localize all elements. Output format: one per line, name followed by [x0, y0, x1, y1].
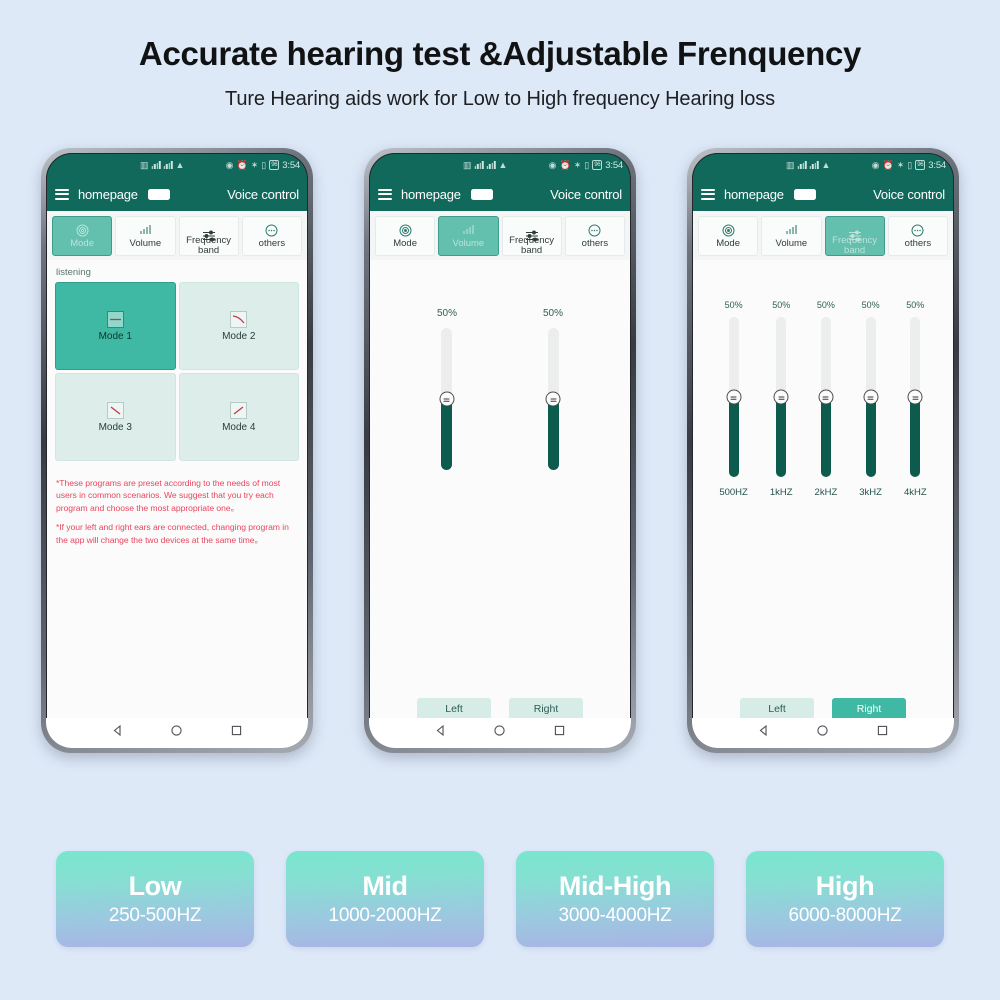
android-nav-bar [369, 718, 631, 748]
tab-frequency-band-label: Frequency band [180, 236, 238, 256]
slider-fill [821, 397, 831, 477]
app-bar-title: homepage [401, 187, 461, 202]
voice-control-button[interactable]: Voice control [227, 187, 299, 202]
frequency-slider-4khz: 50% 4kHZ [904, 300, 927, 498]
sim-card-icon: ▥ [463, 161, 472, 170]
home-circle-icon[interactable] [493, 724, 506, 742]
tab-frequency-band[interactable]: Frequency band [825, 216, 885, 256]
badge-high-title: High [816, 871, 874, 902]
mode-card-4[interactable]: Mode 4 [179, 373, 300, 461]
slider-knob[interactable] [818, 390, 833, 405]
volume-slider-left-value: 50% [437, 308, 457, 319]
tab-others[interactable]: others [565, 216, 625, 256]
status-bar-clock: 3:54 [605, 160, 623, 171]
status-bar: ▥ ▲ ◉ ⏰ ✶ ▯ 96 3:54 [369, 153, 631, 177]
tab-mode[interactable]: Mode [698, 216, 758, 256]
app-bar: homepage Voice control [692, 177, 954, 211]
tab-mode[interactable]: Mode [52, 216, 112, 256]
tab-frequency-band-label: Frequency band [826, 236, 884, 256]
listening-label: listening [46, 260, 308, 282]
falling-curve-icon [230, 311, 247, 328]
frequency-slider-4khz-label: 4kHZ [904, 487, 927, 498]
vibrate-icon: ▯ [907, 161, 912, 170]
page-title: Accurate hearing test &Adjustable Frenqu… [0, 0, 1000, 72]
recents-square-icon[interactable] [876, 724, 889, 742]
status-bar-clock: 3:54 [282, 160, 300, 171]
badge-mid-high-title: Mid-High [559, 871, 671, 902]
mode-target-icon [722, 224, 735, 237]
frequency-slider-1khz-label: 1kHZ [770, 487, 793, 498]
back-triangle-icon[interactable] [757, 724, 770, 742]
frequency-slider-3khz-label: 3kHZ [859, 487, 882, 498]
eye-icon: ◉ [549, 161, 557, 170]
frequency-slider-1khz: 50% 1kHZ [770, 300, 793, 498]
tab-frequency-band[interactable]: Frequency band [179, 216, 239, 256]
frequency-slider-4khz-value: 50% [906, 300, 924, 310]
voice-control-button[interactable]: Voice control [550, 187, 622, 202]
rising-curve-icon [230, 402, 247, 419]
ellipsis-circle-icon [265, 224, 278, 237]
sim-card-icon: ▥ [786, 161, 795, 170]
battery-pill-icon [471, 189, 493, 200]
slider-knob[interactable] [774, 390, 789, 405]
tab-mode-label: Mode [70, 239, 94, 249]
badge-mid: Mid 1000-2000HZ [286, 851, 484, 947]
frequency-slider-1khz-value: 50% [772, 300, 790, 310]
volume-slider-right: 50% [543, 308, 563, 470]
mode-target-icon [399, 224, 412, 237]
slider-knob[interactable] [908, 390, 923, 405]
mode-card-1-label: Mode 1 [99, 331, 132, 342]
volume-bars-icon [462, 224, 475, 237]
warning-note-2: *If your left and right ears are connect… [56, 521, 298, 546]
badge-mid-high-range: 3000-4000HZ [559, 905, 672, 927]
frequency-slider-1khz-track[interactable] [776, 317, 786, 477]
phone-mockup-mode: ▥ ▲ ◉ ⏰ ✶ ▯ 96 3:54 [41, 148, 313, 753]
status-bar-left-icons: ▥ ▲ [786, 161, 830, 170]
badge-low-range: 250-500HZ [109, 905, 201, 927]
slider-fill [866, 397, 876, 477]
frequency-slider-3khz-value: 50% [862, 300, 880, 310]
volume-slider-area: 50% 50% [369, 260, 631, 718]
app-bar-title: homepage [724, 187, 784, 202]
signal-bars-icon-2 [487, 161, 496, 169]
frequency-slider-area: 50% 500HZ 50% 1kHZ [692, 260, 954, 718]
phone-screen: ▥ ▲ ◉ ⏰ ✶ ▯ 96 3:54 [46, 153, 308, 748]
volume-bars-icon [139, 224, 152, 237]
signal-bars-icon-2 [810, 161, 819, 169]
frequency-slider-500hz-label: 500HZ [719, 487, 748, 498]
mode-card-3-label: Mode 3 [99, 422, 132, 433]
android-nav-bar [46, 718, 308, 748]
phone-mockups-row: ▥ ▲ ◉ ⏰ ✶ ▯ 96 3:54 [0, 148, 1000, 753]
mode-card-1[interactable]: Mode 1 [55, 282, 176, 370]
mode-grid: Mode 1 Mode 2 Mode 3 [46, 282, 308, 461]
back-triangle-icon[interactable] [111, 724, 124, 742]
mode-card-2[interactable]: Mode 2 [179, 282, 300, 370]
badge-low-title: Low [129, 871, 182, 902]
promo-page: Accurate hearing test &Adjustable Frenqu… [0, 0, 1000, 1000]
ellipsis-circle-icon [588, 224, 601, 237]
frequency-slider-2khz-value: 50% [817, 300, 835, 310]
eye-icon: ◉ [226, 161, 234, 170]
volume-bars-icon [785, 224, 798, 237]
slider-fill [548, 399, 559, 470]
sim-card-icon: ▥ [140, 161, 149, 170]
tab-bar: Mode Volume [692, 211, 954, 260]
status-bar: ▥ ▲ ◉ ⏰ ✶ ▯ 96 3:54 [692, 153, 954, 177]
tab-volume[interactable]: Volume [438, 216, 498, 256]
tab-mode[interactable]: Mode [375, 216, 435, 256]
tab-others-label: others [582, 239, 608, 249]
alarm-icon: ⏰ [237, 161, 248, 170]
tab-volume-label: Volume [453, 239, 485, 249]
tab-volume-label: Volume [776, 239, 808, 249]
tab-others[interactable]: others [888, 216, 948, 256]
tab-bar: Mode Volume [46, 211, 308, 260]
flat-curve-icon [107, 311, 124, 328]
vibrate-icon: ▯ [261, 161, 266, 170]
alarm-icon: ⏰ [883, 161, 894, 170]
battery-level: 96 [269, 160, 279, 170]
status-bar-clock: 3:54 [928, 160, 946, 171]
frequency-slider-3khz-track[interactable] [866, 317, 876, 477]
frequency-slider-500hz-track[interactable] [729, 317, 739, 477]
badge-mid-high: Mid-High 3000-4000HZ [516, 851, 714, 947]
bluetooth-icon: ✶ [251, 161, 259, 170]
signal-bars-icon [152, 161, 161, 169]
bluetooth-icon: ✶ [897, 161, 905, 170]
hamburger-menu-icon[interactable] [378, 189, 392, 200]
hamburger-menu-icon[interactable] [55, 189, 69, 200]
tab-others-label: others [905, 239, 931, 249]
voice-control-button[interactable]: Voice control [873, 187, 945, 202]
frequency-slider-2khz: 50% 2kHZ [815, 300, 838, 498]
wifi-icon: ▲ [499, 161, 508, 170]
slider-fill [776, 397, 786, 477]
tab-volume-label: Volume [130, 239, 162, 249]
volume-slider-right-track[interactable] [548, 328, 559, 470]
page-subtitle: Ture Hearing aids work for Low to High f… [0, 72, 1000, 111]
frequency-slider-4khz-track[interactable] [910, 317, 920, 477]
home-circle-icon[interactable] [170, 724, 183, 742]
badge-mid-title: Mid [362, 871, 407, 902]
hamburger-menu-icon[interactable] [701, 189, 715, 200]
slider-fill [729, 397, 739, 477]
frequency-slider-2khz-label: 2kHZ [815, 487, 838, 498]
slider-knob[interactable] [726, 390, 741, 405]
volume-slider-right-value: 50% [543, 308, 563, 319]
vibrate-icon: ▯ [584, 161, 589, 170]
status-bar-right-icons: ◉ ⏰ ✶ ▯ 96 3:54 [226, 160, 300, 171]
status-bar-left-icons: ▥ ▲ [140, 161, 184, 170]
slider-knob[interactable] [546, 392, 561, 407]
warning-notes: *These programs are preset according to … [46, 461, 308, 553]
signal-bars-icon [475, 161, 484, 169]
app-bar: homepage Voice control [46, 177, 308, 211]
status-bar-right-icons: ◉ ⏰ ✶ ▯ 96 3:54 [549, 160, 623, 171]
frequency-slider-2khz-track[interactable] [821, 317, 831, 477]
mode-card-2-label: Mode 2 [222, 331, 255, 342]
frequency-slider-500hz-value: 50% [725, 300, 743, 310]
back-triangle-icon[interactable] [434, 724, 447, 742]
wifi-icon: ▲ [822, 161, 831, 170]
recents-square-icon[interactable] [230, 724, 243, 742]
volume-slider-left: 50% [437, 308, 457, 470]
recents-square-icon[interactable] [553, 724, 566, 742]
phone-screen: ▥ ▲ ◉ ⏰ ✶ ▯ 96 3:54 [692, 153, 954, 748]
bluetooth-icon: ✶ [574, 161, 582, 170]
descending-curve-icon [107, 402, 124, 419]
alarm-icon: ⏰ [560, 161, 571, 170]
home-circle-icon[interactable] [816, 724, 829, 742]
phone-mockup-volume: ▥ ▲ ◉ ⏰ ✶ ▯ 96 3:54 [364, 148, 636, 753]
frequency-range-badges: Low 250-500HZ Mid 1000-2000HZ Mid-High 3… [0, 851, 1000, 947]
tab-frequency-band-label: Frequency band [503, 236, 561, 256]
mode-target-icon [76, 224, 89, 237]
ear-selector: Left Right [692, 698, 954, 720]
right-ear-button[interactable]: Right [509, 698, 583, 720]
left-ear-button[interactable]: Left [740, 698, 814, 720]
mode-card-4-label: Mode 4 [222, 422, 255, 433]
slider-fill [910, 397, 920, 477]
slider-knob[interactable] [439, 392, 454, 407]
eye-icon: ◉ [872, 161, 880, 170]
status-bar-left-icons: ▥ ▲ [463, 161, 507, 170]
signal-bars-icon [798, 161, 807, 169]
tab-mode-label: Mode [393, 239, 417, 249]
slider-fill [441, 399, 452, 470]
frequency-slider-3khz: 50% 3kHZ [859, 300, 882, 498]
tab-mode-label: Mode [716, 239, 740, 249]
status-bar: ▥ ▲ ◉ ⏰ ✶ ▯ 96 3:54 [46, 153, 308, 177]
phone-mockup-frequency: ▥ ▲ ◉ ⏰ ✶ ▯ 96 3:54 [687, 148, 959, 753]
tab-bar: Mode Volume [369, 211, 631, 260]
badge-high: High 6000-8000HZ [746, 851, 944, 947]
warning-note-1: *These programs are preset according to … [56, 477, 298, 514]
badge-low: Low 250-500HZ [56, 851, 254, 947]
tab-volume[interactable]: Volume [761, 216, 821, 256]
frequency-slider-500hz: 50% 500HZ [719, 300, 748, 498]
battery-pill-icon [148, 189, 170, 200]
battery-level: 96 [592, 160, 602, 170]
tab-volume[interactable]: Volume [115, 216, 175, 256]
badge-high-range: 6000-8000HZ [789, 905, 902, 927]
wifi-icon: ▲ [176, 161, 185, 170]
slider-knob[interactable] [863, 390, 878, 405]
badge-mid-range: 1000-2000HZ [329, 905, 442, 927]
ear-selector: Left Right [369, 698, 631, 720]
phone-screen: ▥ ▲ ◉ ⏰ ✶ ▯ 96 3:54 [369, 153, 631, 748]
battery-pill-icon [794, 189, 816, 200]
battery-level: 96 [915, 160, 925, 170]
right-ear-button[interactable]: Right [832, 698, 906, 720]
ellipsis-circle-icon [911, 224, 924, 237]
tab-frequency-band[interactable]: Frequency band [502, 216, 562, 256]
left-ear-button[interactable]: Left [417, 698, 491, 720]
signal-bars-icon-2 [164, 161, 173, 169]
mode-card-3[interactable]: Mode 3 [55, 373, 176, 461]
tab-others-label: others [259, 239, 285, 249]
tab-others[interactable]: others [242, 216, 302, 256]
volume-slider-left-track[interactable] [441, 328, 452, 470]
app-bar: homepage Voice control [369, 177, 631, 211]
status-bar-right-icons: ◉ ⏰ ✶ ▯ 96 3:54 [872, 160, 946, 171]
android-nav-bar [692, 718, 954, 748]
app-bar-title: homepage [78, 187, 138, 202]
